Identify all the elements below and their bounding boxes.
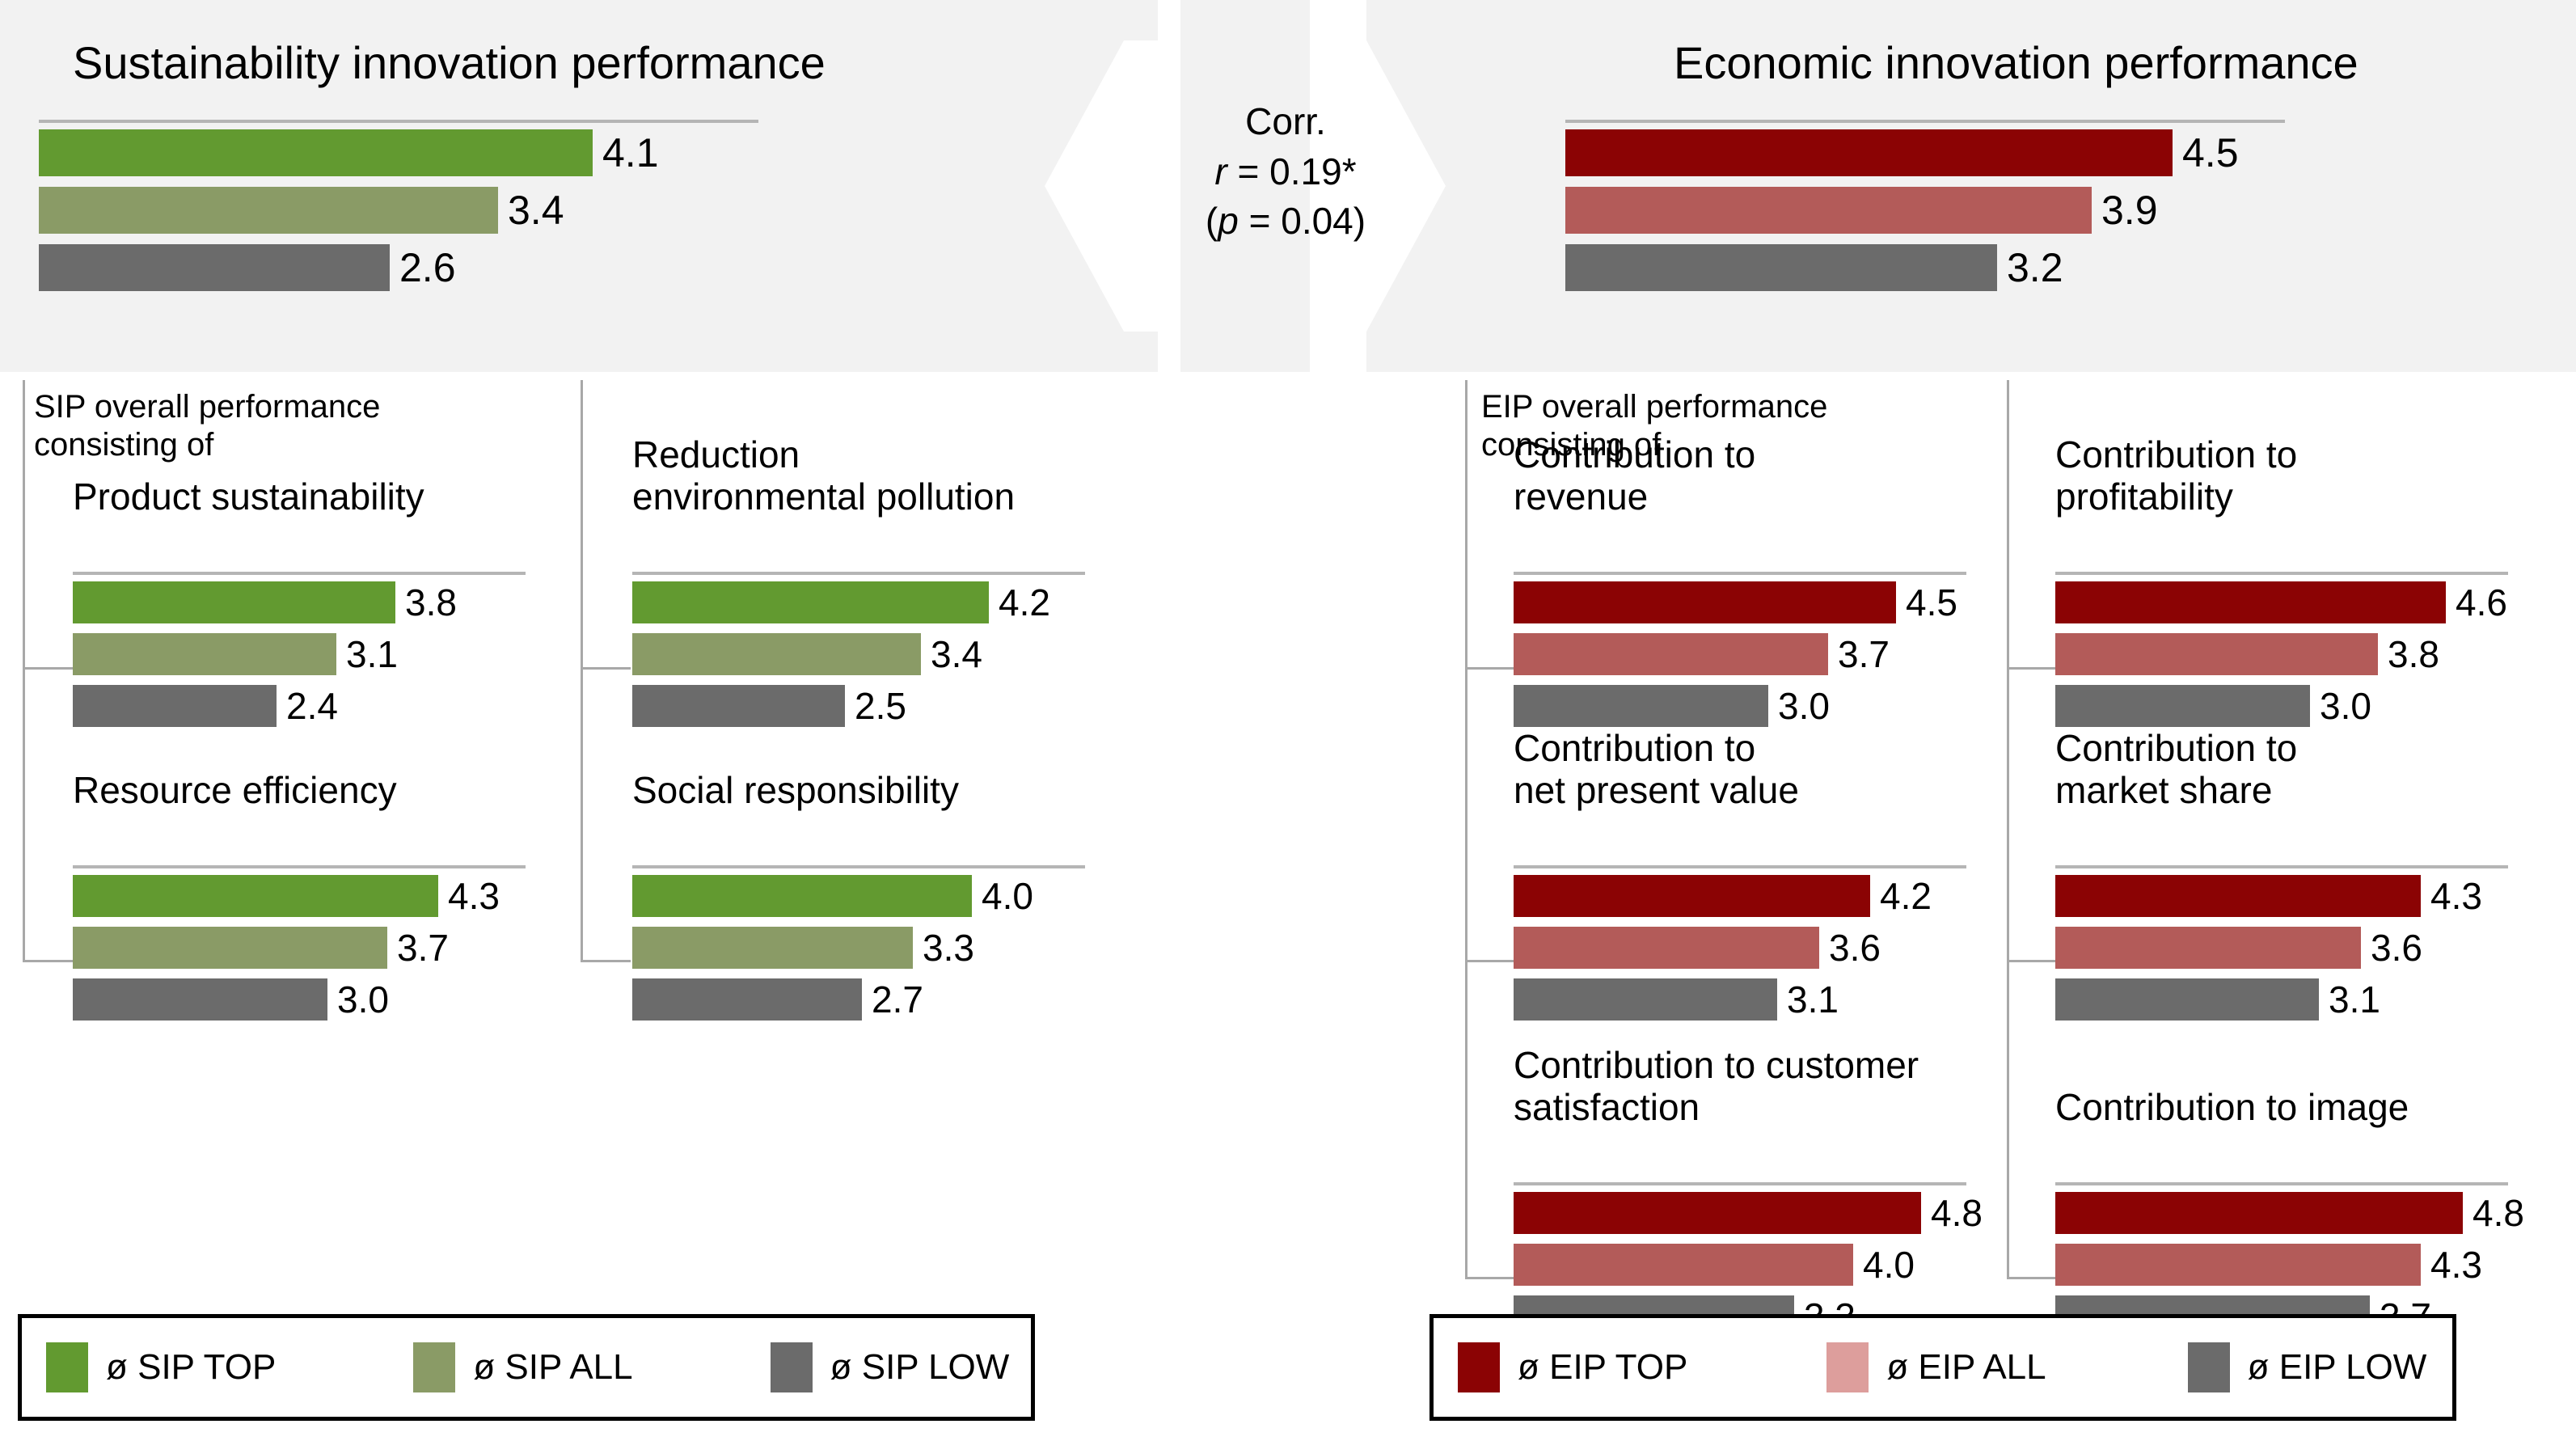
chart-title: Reductionenvironmental pollution [632,434,1015,518]
bar-eipall [1514,927,1819,969]
bar-row: 3.2 [1565,244,2285,291]
caption-line: EIP overall performance [1481,388,1827,426]
bar-row: 3.8 [2055,633,2508,675]
bracket-tick [1465,960,1515,962]
bar-row: 3.4 [632,633,1085,675]
bar-value-label: 3.0 [327,978,389,1021]
eip-legend: ø EIP TOPø EIP ALLø EIP LOW [1429,1314,2456,1421]
bar-siplow [39,244,390,291]
bar-row: 3.0 [2055,685,2508,727]
bracket-tick [2007,667,2057,670]
bar-value-label: 4.1 [593,129,659,176]
chart-axis-rule [1514,572,1966,575]
bracket-tick [23,960,73,962]
corr-r-value: = 0.19* [1227,150,1357,192]
chart-title-line: Resource efficiency [73,770,397,812]
bar-row: 4.8 [2055,1192,2508,1234]
legend-swatch [1826,1342,1869,1392]
bracket-tick [1465,1277,1515,1279]
caption-line: consisting of [34,426,380,464]
bar-value-label: 4.8 [2463,1191,2524,1235]
figure-root: Sustainability innovation performance Ec… [0,0,2576,1441]
bar-sipall [632,927,913,969]
bar-value-label: 3.7 [1828,632,1890,676]
chart-title-line: revenue [1514,476,1755,518]
corr-p-symbol: p [1218,200,1239,242]
bar-eiplow [2055,978,2319,1021]
sip-consisting-caption: SIP overall performanceconsisting of [34,388,380,464]
chart-axis-rule [73,572,526,575]
corr-p-value: = 0.04) [1239,200,1366,242]
bracket-tick [581,960,631,962]
correlation-text: Corr. r = 0.19* (p = 0.04) [1180,97,1391,247]
bar-siptop [73,581,395,623]
bar-sipall [73,633,336,675]
legend-label: ø SIP ALL [473,1347,632,1388]
bar-value-label: 4.3 [438,874,500,918]
bar-row: 4.0 [1514,1244,1966,1286]
sip-bracket-col2 [581,380,631,962]
eip-headline: Economic innovation performance [1674,36,2359,89]
bar-row: 2.6 [39,244,758,291]
bar-eipall [1514,1244,1853,1286]
bar-value-label: 4.0 [972,874,1033,918]
bar-value-label: 4.3 [2421,874,2482,918]
bracket-line [23,380,25,962]
sip-bracket [23,380,73,962]
bar-row: 3.0 [1514,685,1966,727]
bar-row: 4.2 [632,581,1085,623]
chart-title: Product sustainability [73,476,424,518]
bar-eipall [2055,927,2361,969]
bar-value-label: 3.8 [2378,632,2439,676]
chart-title-line: Contribution to image [2055,1087,2409,1129]
chart-title-line: Social responsibility [632,770,959,812]
legend-item: ø SIP LOW [771,1342,1010,1392]
bracket-tick [2007,1277,2057,1279]
bracket-tick [581,667,631,670]
bracket-line [2007,380,2009,1279]
bar-row: 3.6 [1514,927,1966,969]
chart-title-line: Reduction [632,434,1015,476]
chart-title-line: Contribution to [1514,728,1799,770]
chart-bars: 4.13.42.6 [39,129,758,302]
legend-swatch [1458,1342,1500,1392]
bar-value-label: 3.1 [1777,978,1839,1021]
bar-row: 3.1 [2055,978,2508,1021]
caption-line: SIP overall performance [34,388,380,426]
chart-bars: 4.53.73.0 [1514,581,1966,727]
bar-siptop [39,129,593,176]
chart-title-line: satisfaction [1514,1087,1919,1129]
chart-title-line: Product sustainability [73,476,424,518]
bar-value-label: 4.6 [2446,581,2507,624]
legend-swatch [2188,1342,2230,1392]
chart-title: Contribution to image [2055,1087,2409,1129]
bar-row: 4.6 [2055,581,2508,623]
bar-value-label: 4.2 [989,581,1050,624]
bar-value-label: 3.4 [498,187,564,234]
bar-row: 3.3 [632,927,1085,969]
bar-row: 4.8 [1514,1192,1966,1234]
chart-title: Resource efficiency [73,770,397,812]
bar-value-label: 4.5 [1896,581,1957,624]
bar-eipall [2055,1244,2421,1286]
bar-row: 3.0 [73,978,526,1021]
bar-row: 4.2 [1514,875,1966,917]
chart-title-line: net present value [1514,770,1799,812]
bar-value-label: 3.8 [395,581,457,624]
bar-eipall [1565,187,2092,234]
chart-title: Contribution torevenue [1514,434,1755,518]
bar-row: 3.4 [39,187,758,234]
chart-bars: 4.33.73.0 [73,875,526,1021]
bar-eiptop [1514,875,1870,917]
bar-eiptop [1514,1192,1921,1234]
chart-title-line: Contribution to customer [1514,1045,1919,1087]
legend-item: ø EIP TOP [1458,1342,1687,1392]
chart-title: Contribution toprofitability [2055,434,2297,518]
bar-value-label: 2.6 [390,244,456,291]
chart-axis-rule [39,120,758,123]
chart-axis-rule [1514,865,1966,868]
bar-row: 3.7 [73,927,526,969]
bar-value-label: 3.1 [2319,978,2380,1021]
bar-eiptop [2055,581,2446,623]
bar-row: 3.6 [2055,927,2508,969]
chart-bars: 4.03.32.7 [632,875,1085,1021]
bar-value-label: 4.2 [1870,874,1932,918]
chart-bars: 4.23.42.5 [632,581,1085,727]
bar-row: 2.4 [73,685,526,727]
chart-title-line: Contribution to [2055,434,2297,476]
bar-siplow [73,685,277,727]
bar-row: 3.8 [73,581,526,623]
bar-value-label: 2.5 [845,684,906,728]
bar-siplow [632,978,862,1021]
bar-siplow [632,685,845,727]
bar-eiptop [2055,875,2421,917]
bar-eiptop [1514,581,1896,623]
chart-title-line: Contribution to [1514,434,1755,476]
bracket-tick [1465,667,1515,670]
chart-title-line: environmental pollution [632,476,1015,518]
bar-eipall [2055,633,2378,675]
chart-axis-rule [632,572,1085,575]
bar-value-label: 3.7 [387,926,449,970]
chart-axis-rule [2055,1182,2508,1185]
sip-legend: ø SIP TOPø SIP ALLø SIP LOW [18,1314,1035,1421]
bar-siplow [73,978,327,1021]
sip-headline: Sustainability innovation performance [73,36,826,89]
bar-row: 2.5 [632,685,1085,727]
legend-item: ø EIP ALL [1826,1342,2046,1392]
bar-value-label: 4.0 [1853,1243,1915,1287]
chart-axis-rule [1565,120,2285,123]
bracket-line [1465,380,1467,1279]
eip-bracket-col2 [2007,380,2057,1279]
chart-bars: 4.53.93.2 [1565,129,2285,302]
legend-swatch [413,1342,455,1392]
bracket-tick [2007,960,2057,962]
chart-title: Contribution tonet present value [1514,728,1799,811]
chart-axis-rule [632,865,1085,868]
bar-value-label: 3.0 [1768,684,1830,728]
bar-siptop [632,875,972,917]
chart-axis-rule [2055,865,2508,868]
bar-value-label: 3.0 [2310,684,2371,728]
chart-title: Contribution tomarket share [2055,728,2297,811]
legend-label: ø EIP ALL [1886,1347,2046,1388]
bar-value-label: 3.4 [921,632,982,676]
bar-row: 4.1 [39,129,758,176]
bar-value-label: 4.8 [1921,1191,1983,1235]
bar-value-label: 3.3 [913,926,974,970]
bar-row: 2.7 [632,978,1085,1021]
bar-eiplow [1514,685,1768,727]
bar-row: 3.7 [1514,633,1966,675]
corr-r-line: r = 0.19* [1180,147,1391,197]
chart-title: Social responsibility [632,770,959,812]
corr-r-symbol: r [1214,150,1227,192]
bar-value-label: 3.9 [2092,187,2158,234]
bar-eipall [1514,633,1828,675]
bar-sipall [73,927,387,969]
chart-bars: 3.83.12.4 [73,581,526,727]
bar-value-label: 3.2 [1997,244,2063,291]
chart-title-line: profitability [2055,476,2297,518]
bar-value-label: 4.5 [2173,129,2239,176]
bracket-tick [23,667,73,670]
bar-eiplow [1514,978,1777,1021]
bar-value-label: 2.7 [862,978,923,1021]
bar-siptop [73,875,438,917]
legend-label: ø SIP TOP [106,1347,276,1388]
bar-sipall [39,187,498,234]
bar-row: 3.9 [1565,187,2285,234]
bar-value-label: 3.6 [2361,926,2422,970]
chart-axis-rule [2055,572,2508,575]
bracket-line [581,380,583,962]
bar-row: 4.5 [1514,581,1966,623]
bar-eiplow [2055,685,2310,727]
legend-label: ø EIP LOW [2248,1347,2427,1388]
chart-title-line: market share [2055,770,2297,812]
chart-bars: 4.33.63.1 [2055,875,2508,1021]
bar-sipall [632,633,921,675]
bar-eiptop [1565,129,2173,176]
legend-swatch [771,1342,813,1392]
legend-item: ø SIP TOP [46,1342,276,1392]
corr-p-line: (p = 0.04) [1180,196,1391,247]
bar-value-label: 2.4 [277,684,338,728]
legend-item: ø EIP LOW [2188,1342,2427,1392]
chart-title: Contribution to customersatisfaction [1514,1045,1919,1128]
chart-bars: 4.23.63.1 [1514,875,1966,1021]
bar-eiptop [2055,1192,2463,1234]
bar-siptop [632,581,989,623]
bar-eiplow [1565,244,1997,291]
bar-row: 4.0 [632,875,1085,917]
legend-item: ø SIP ALL [413,1342,632,1392]
corr-p-open: ( [1206,200,1218,242]
bar-row: 4.3 [73,875,526,917]
eip-bracket [1465,380,1515,1279]
bar-row: 3.1 [73,633,526,675]
chart-title-line: Contribution to [2055,728,2297,770]
bar-value-label: 3.6 [1819,926,1881,970]
bar-row: 4.3 [2055,1244,2508,1286]
bar-row: 4.5 [1565,129,2285,176]
legend-label: ø SIP LOW [830,1347,1010,1388]
bar-value-label: 3.1 [336,632,398,676]
chart-axis-rule [73,865,526,868]
legend-swatch [46,1342,88,1392]
bar-value-label: 4.3 [2421,1243,2482,1287]
corr-label: Corr. [1180,97,1391,147]
chart-axis-rule [1514,1182,1966,1185]
legend-label: ø EIP TOP [1518,1347,1687,1388]
chart-bars: 4.63.83.0 [2055,581,2508,727]
bar-row: 3.1 [1514,978,1966,1021]
bar-row: 4.3 [2055,875,2508,917]
